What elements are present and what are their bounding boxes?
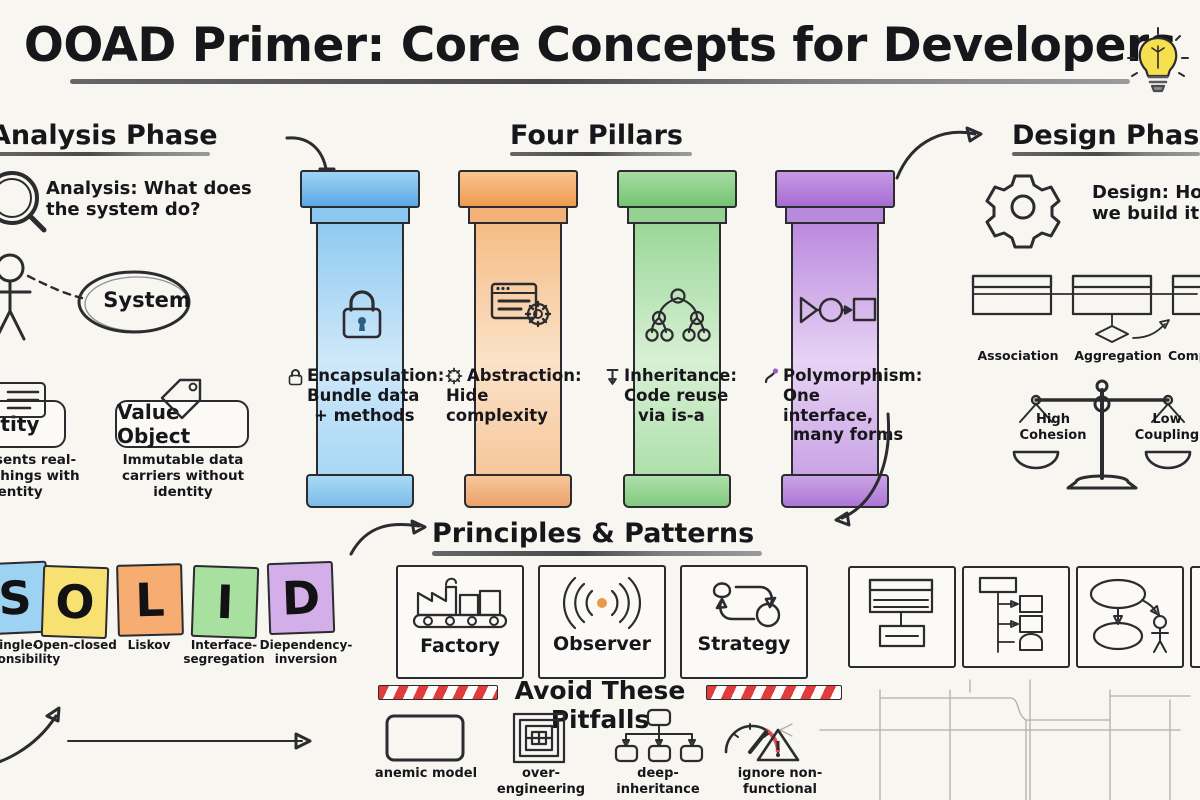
arrow-curve-up-icon xyxy=(0,678,110,768)
sequence-diagram-icon xyxy=(974,576,1058,656)
arrow-design-to-principles-icon xyxy=(776,408,896,533)
pillars-heading: Four Pillars xyxy=(510,120,692,151)
solid-letter-l: L xyxy=(135,573,166,628)
pillar-line2-abstraction: Hide complexity xyxy=(446,386,596,426)
pillar-line3-encapsulation: + methods xyxy=(288,406,438,426)
pillar-line2-inheritance: Code reuse xyxy=(605,386,755,406)
entity-card-desc: Represents real-world things with identi… xyxy=(0,452,88,501)
design-question: Design: How we build it? xyxy=(1092,182,1200,224)
state-diagram-card xyxy=(1190,566,1200,668)
solid-tile-i: I xyxy=(191,565,259,639)
association-box xyxy=(973,276,1051,314)
lock-icon xyxy=(340,288,384,338)
lightbulb-icon xyxy=(1128,26,1188,96)
analysis-heading-block: Analysis Phase xyxy=(0,120,218,156)
pattern-label-observer: Observer xyxy=(540,633,664,655)
solid-letter-i: I xyxy=(216,575,235,630)
radio-waves-icon xyxy=(554,575,650,631)
pattern-label-strategy: Strategy xyxy=(682,633,806,655)
shapes-interface-icon xyxy=(799,294,875,328)
principles-heading-block: Principles & Patterns xyxy=(432,518,762,556)
relationship-label-composition: Composition xyxy=(1168,348,1200,363)
pitfall-label-ignore-non-functional: ignore non-functional xyxy=(706,766,854,797)
pattern-card-observer: Observer xyxy=(538,565,666,679)
analysis-question: Analysis: What does the system do? xyxy=(46,178,261,220)
tree-hierarchy-icon xyxy=(645,288,711,344)
pillar-title-encapsulation: Encapsulation: xyxy=(288,366,438,386)
pattern-card-strategy: Strategy xyxy=(680,565,808,679)
pillar-caption-inheritance: Inheritance: Code reuse via is-a xyxy=(605,366,755,425)
gauge-warning-icon xyxy=(722,708,800,764)
tag-icon xyxy=(158,376,206,416)
pillar-inheritance: Inheritance: Code reuse via is-a xyxy=(617,170,737,508)
solid-tile-o: O xyxy=(41,565,109,639)
polymorphism-small-icon xyxy=(763,368,779,385)
lock-small-icon xyxy=(288,368,303,385)
scale-left-line2: Cohesion xyxy=(1018,428,1088,444)
factory-conveyor-icon xyxy=(412,573,508,631)
page-title-block: OOAD Primer: Core Concepts for Developer… xyxy=(0,18,1200,84)
scale-label-left: High Cohesion xyxy=(1018,412,1088,443)
background-sketch-lines xyxy=(820,680,1200,800)
page-title: OOAD Primer: Core Concepts for Developer… xyxy=(18,18,1182,77)
arrow-right-baseline-icon xyxy=(66,728,326,754)
pattern-card-factory: Factory xyxy=(396,565,524,679)
solid-letter-s: S xyxy=(0,570,33,625)
scale-right-line1: Low xyxy=(1132,412,1200,428)
solid-letter-d: D xyxy=(281,570,321,625)
hazard-bar-left xyxy=(378,685,498,700)
window-gear-icon xyxy=(490,282,550,334)
gear-icon xyxy=(988,172,1058,242)
stick-figure-actor-icon xyxy=(0,255,30,339)
pattern-label-factory: Factory xyxy=(398,635,522,657)
solid-tile-d: D xyxy=(267,561,335,635)
pillars-heading-block: Four Pillars xyxy=(510,120,692,156)
pillar-title-polymorphism: Polymorphism: xyxy=(763,366,913,386)
solid-label-d: Diependency- inversion xyxy=(258,638,354,667)
value-object-card-desc: Immutable data carriers without identity xyxy=(98,452,268,501)
composition-box xyxy=(1173,276,1200,314)
deep-tree-icon xyxy=(616,710,700,764)
sequence-diagram-card xyxy=(962,566,1070,668)
pillar-line3-inheritance: via is-a xyxy=(605,406,755,426)
pillar-title-inheritance: Inheritance: xyxy=(605,366,755,386)
scale-left-line1: High xyxy=(1018,412,1088,428)
empty-box-icon xyxy=(385,714,465,762)
aggregation-box xyxy=(1073,276,1151,342)
gear-small-icon xyxy=(446,368,462,384)
pillar-caption-abstraction: Abstraction: Hide complexity xyxy=(446,366,596,425)
solid-label-o: Open-closed xyxy=(30,638,120,652)
solid-letter-o: O xyxy=(55,574,96,629)
infographic-canvas: OOAD Primer: Core Concepts for Developer… xyxy=(0,0,1200,800)
pillar-title-abstraction: Abstraction: xyxy=(446,366,596,386)
inheritance-arrow-small-icon xyxy=(605,367,620,385)
pillar-abstraction: Abstraction: Hide complexity xyxy=(458,170,578,508)
usecase-bubble-label: System xyxy=(92,288,202,312)
pillar-caption-encapsulation: Encapsulation: Bundle data + methods xyxy=(288,366,438,425)
analysis-heading: Analysis Phase xyxy=(0,120,218,151)
design-heading: Design Phase xyxy=(1012,120,1200,151)
class-diagram-icon xyxy=(860,578,944,654)
id-card-icon xyxy=(0,382,48,420)
scale-label-right: Low Coupling xyxy=(1132,412,1200,443)
hazard-bar-right xyxy=(706,685,842,700)
pillar-line2-encapsulation: Bundle data xyxy=(288,386,438,406)
principles-heading: Principles & Patterns xyxy=(432,518,762,549)
relationship-label-association: Association xyxy=(968,348,1068,363)
design-heading-block: Design Phase xyxy=(1012,120,1200,156)
maze-icon xyxy=(512,712,566,764)
pillar-encapsulation: Encapsulation: Bundle data + methods xyxy=(300,170,420,508)
solid-tile-l: L xyxy=(116,563,184,637)
arrow-pillars-to-design-icon xyxy=(895,120,985,180)
pitfall-label-deep-inheritance: deep-inheritance xyxy=(600,766,716,797)
pitfall-label-anemic-model: anemic model xyxy=(368,766,484,782)
relationship-label-aggregation: Aggregation xyxy=(1068,348,1168,363)
solid-label-i: Interface- segregation xyxy=(178,638,270,667)
usecase-diagram-card xyxy=(1076,566,1184,668)
pitfall-label-over-engineering: over-engineering xyxy=(482,766,600,797)
class-diagram-card xyxy=(848,566,956,668)
scale-right-line2: Coupling xyxy=(1132,428,1200,444)
usecase-diagram-icon xyxy=(1086,578,1174,654)
arrow-to-principles-icon xyxy=(345,508,435,558)
magnifier-icon xyxy=(0,168,48,232)
uml-relationships-diagram xyxy=(965,268,1200,348)
swap-cycle-icon xyxy=(694,575,794,631)
